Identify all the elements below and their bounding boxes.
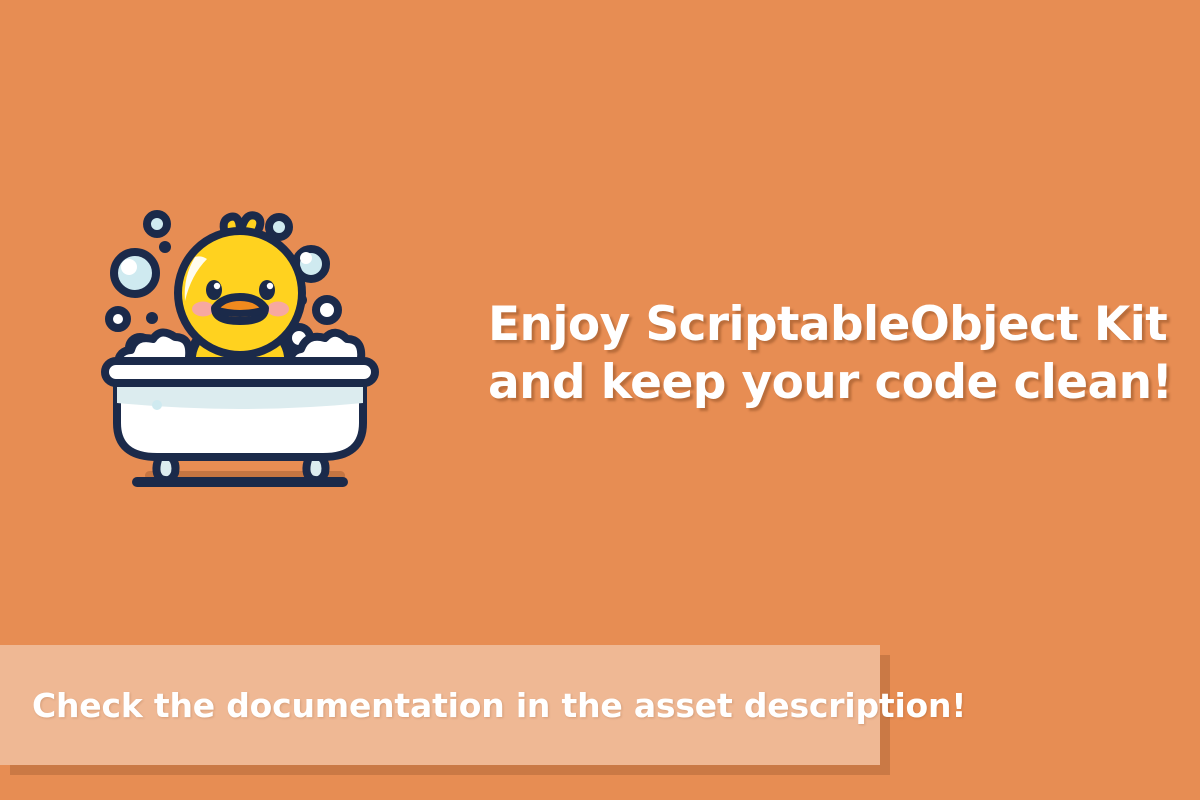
rubber-duck-in-bathtub-illustration [95,205,385,490]
banner-text: Check the documentation in the asset des… [32,645,966,765]
duck-cheek-right [267,302,289,317]
duck-eye-left-highlight [214,283,220,289]
headline-line-2: and keep your code clean! [488,354,1148,412]
duck-cheek-left [192,302,214,317]
documentation-banner: Check the documentation in the asset des… [0,645,880,765]
tub-leg-left [156,457,175,480]
bathtub [105,361,375,482]
duck-beak-line [216,310,264,314]
duck-eye-right-highlight [267,283,273,289]
slide-canvas: Enjoy ScriptableObject Kit and keep your… [0,0,1200,800]
tub-rim [105,361,375,383]
duck-bathtub-graphic [95,205,385,490]
tub-water-dot [152,400,162,410]
headline-line-1: Enjoy ScriptableObject Kit [488,296,1148,354]
duck-eye-left [206,280,222,300]
duck-eye-right [259,280,275,300]
headline: Enjoy ScriptableObject Kit and keep your… [488,296,1148,412]
tub-leg-right [306,457,325,480]
